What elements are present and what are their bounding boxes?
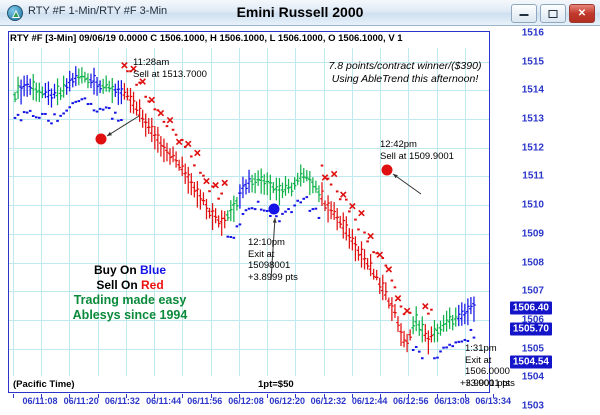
price-axis[interactable]: 1516151515141513151215111510150915081507… [492,31,600,393]
ohlc-bar [156,127,160,153]
ohlc-bar [199,189,203,209]
abletrend-sell-stop-icon [186,141,191,146]
price-marker-label: 1504.54 [510,355,552,368]
ohlc-bar [31,74,35,100]
gridline-vertical [69,48,70,376]
price-tick-label: 1510 [522,200,544,211]
abletrend-buy-dot [105,106,108,108]
ohlc-bar [427,330,431,354]
abletrend-sell-dot [430,309,433,311]
price-tick-label: 1509 [522,228,544,239]
ohlc-bar [165,143,169,162]
abletrend-buy-dot [17,114,20,116]
time-tick-label: 06/12:08 [228,396,264,406]
point-value-label: 1pt=$50 [258,379,294,390]
time-tick-label: 06/12:56 [393,396,429,406]
time-tick-label: 06/12:32 [311,396,347,406]
abletrend-sell-dot [339,198,342,200]
abletrend-sell-stop-icon [213,183,218,188]
price-marker-label: 1505.70 [510,322,552,335]
abletrend-buy-dot [53,113,56,115]
ohlc-bar [135,101,139,115]
abletrend-buy-dot [108,107,111,109]
close-button[interactable]: ✕ [569,4,595,23]
time-tick-mark [98,394,99,398]
price-tick-label: 1511 [522,171,544,182]
minimize-button[interactable] [511,4,537,23]
chart-window: RTY #F 1-Min/RTY #F 3-Min Emini Russell … [0,0,600,415]
abletrend-buy-dot [272,208,275,210]
gridline-vertical [13,48,14,376]
ohlc-bar [214,208,218,223]
ohlc-bar [89,74,93,89]
abletrend-sell-dot [144,96,147,98]
ohlc-bar [220,210,224,236]
time-tick-mark [493,394,494,398]
annotation-headline: 7.8 points/contract winner/($390) Using … [305,60,505,86]
abletrend-sell-dot [199,172,202,174]
time-tick-mark [465,394,466,398]
ohlc-bar [381,275,385,301]
gridline-vertical [41,48,42,376]
abletrend-buy-dot [114,112,117,114]
gridline-vertical [126,48,127,376]
abletrend-buy-dot [87,103,90,105]
abletrend-buy-dot [263,210,266,212]
abletrend-buy-dot [257,201,260,203]
ohlc-bar [22,76,26,97]
ohlc-bar [357,246,361,261]
ohlc-bar [196,181,200,208]
price-tick-label: 1507 [522,286,544,297]
abletrend-buy-dot [233,237,236,239]
net-points-label: +3.9001 pts [460,378,510,389]
gridline-horizontal [9,90,489,91]
abletrend-sell-dot [336,190,339,192]
abletrend-buy-dot [44,113,47,115]
ohlc-bar [129,88,133,113]
gridline-vertical [408,48,409,376]
app-title: Emini Russell 2000 [0,4,600,20]
abletrend-sell-dot [193,164,196,166]
ohlc-bar [193,182,197,197]
abletrend-buy-dot [299,201,302,203]
ohlc-bar [375,270,379,280]
ohlc-bar [71,73,75,87]
annotation-exit-1210: 12:10pm Exit at 15098001 +3.8999 pts [248,237,298,283]
ohlc-bar [217,215,221,227]
ohlc-bar [372,269,376,280]
abletrend-buy-dot [26,112,29,114]
ohlc-bar [430,326,434,342]
abletrend-sell-dot [138,82,141,84]
window-controls: ✕ [511,4,595,23]
abletrend-buy-dot [281,213,284,215]
abletrend-buy-dot [448,344,451,346]
ohlc-bar [417,320,421,335]
abletrend-buy-dot [433,357,436,359]
ohlc-bar [117,80,121,104]
time-tick-mark [211,394,212,398]
abletrend-sell-dot [163,121,166,123]
ohlc-bar [284,176,288,196]
abletrend-buy-dot [290,211,293,213]
abletrend-buy-dot [84,97,87,99]
ohlc-bar [466,298,470,325]
ohlc-bar [132,92,136,114]
abletrend-buy-dot [78,100,81,102]
abletrend-sell-dot [172,129,175,131]
abletrend-buy-dot [451,345,454,347]
abletrend-buy-dot [312,208,315,210]
gridline-vertical [295,48,296,376]
ohlc-bar [451,315,455,330]
ohlc-bar [120,80,124,104]
time-tick-mark [352,394,353,398]
ohlc-bar [259,168,263,193]
ohlc-bar [338,216,342,228]
abletrend-buy-dot [245,209,248,211]
abletrend-buy-dot [74,101,77,103]
abletrend-buy-dot [318,217,321,219]
abletrend-buy-dot [248,208,251,210]
abletrend-buy-dot [275,215,278,217]
abletrend-sell-dot [190,155,193,157]
gridline-horizontal [9,119,489,120]
abletrend-buy-dot [278,220,281,222]
ohlc-bar [348,228,352,249]
ohlc-bar [287,179,291,193]
ohlc-bar [433,320,437,343]
time-tick-mark [154,394,155,398]
abletrend-sell-stop-icon [386,267,391,272]
price-tick-label: 1503 [522,401,544,412]
gridline-vertical [324,48,325,376]
gridline-vertical [267,48,268,376]
abletrend-buy-dot [23,111,26,113]
abletrend-buy-dot [81,98,84,100]
ohlc-bar [28,79,32,96]
time-tick-mark [380,394,381,398]
window-titlebar: RTY #F 1-Min/RTY #F 3-Min Emini Russell … [0,0,600,26]
ohlc-bar [469,297,473,314]
abletrend-sell-dot [394,286,397,288]
legend-tagline-2: Ablesys since 1994 [55,308,205,323]
abletrend-sell-stop-icon [204,178,209,183]
abletrend-sell-dot [157,109,160,111]
ohlc-bar [47,81,51,104]
ohlc-bar [424,324,428,342]
abletrend-sell-stop-icon [359,210,364,215]
abletrend-sell-dot [366,240,369,242]
abletrend-sell-stop-icon [423,304,428,309]
ohlc-bar [363,249,367,269]
ohlc-bar [232,196,236,223]
price-tick-label: 1514 [522,85,544,96]
ohlc-bar [144,113,148,136]
ohlc-bar [360,241,364,267]
annotation-sell-1242: 12:42pm Sell at 1509.9001 [380,139,454,162]
abletrend-sell-dot [348,210,351,212]
abletrend-buy-dot [470,329,473,331]
abletrend-buy-dot [99,108,102,110]
ohlc-bar [275,178,279,201]
gridline-horizontal [9,205,489,206]
quote-header: RTY #F [3-Min] 09/06/19 0.0000 C 1506.10… [10,33,403,46]
abletrend-sell-dot [391,280,394,282]
gridline-vertical [239,48,240,376]
abletrend-sell-dot [166,125,169,127]
ohlc-bar [25,75,29,97]
ohlc-bar [174,151,178,167]
ohlc-bar [281,183,285,199]
annotation-arrowhead [273,218,277,223]
abletrend-sell-stop-icon [341,192,346,197]
ohlc-bar [329,201,333,219]
ohlc-bar [396,316,400,332]
ohlc-bar [77,68,81,85]
abletrend-buy-dot [226,236,229,238]
ohlc-bar [226,210,230,221]
ohlc-bar [101,79,105,94]
gridline-vertical [352,48,353,376]
ohlc-bar [74,66,78,86]
abletrend-buy-dot [461,341,464,343]
abletrend-buy-dot [236,225,239,227]
abletrend-buy-dot [242,213,245,215]
ohlc-bar [369,254,373,276]
abletrend-sell-dot [217,198,220,200]
abletrend-buy-dot [50,122,53,124]
ohlc-bar [205,199,209,220]
ohlc-bar [454,308,458,327]
abletrend-buy-dot [418,351,421,353]
abletrend-sell-stop-icon [195,150,200,155]
abletrend-sell-dot [175,134,178,136]
abletrend-buy-dot [254,208,257,210]
ohlc-bar [311,177,315,193]
price-tick-label: 1504 [522,372,544,383]
ohlc-bar [202,192,206,205]
time-tick-mark [126,394,127,398]
ohlc-bar [366,258,370,270]
ohlc-bar [59,87,63,100]
ohlc-bar [296,173,300,185]
ohlc-bar [186,167,190,194]
abletrend-buy-dot [305,196,308,198]
price-tick-label: 1515 [522,56,544,67]
abletrend-buy-dot [230,236,233,238]
ohlc-bar [86,73,90,88]
ohlc-bar [162,138,166,162]
ohlc-bar [308,171,312,195]
abletrend-buy-dot [315,208,318,210]
time-tick-mark [295,394,296,398]
abletrend-buy-dot [93,109,96,111]
ohlc-bar [472,297,476,322]
abletrend-buy-dot [284,211,287,213]
time-tick-mark [324,394,325,398]
abletrend-buy-dot [251,207,254,209]
abletrend-buy-dot [35,116,38,118]
ohlc-bar [387,298,391,309]
ohlc-bar [460,302,464,325]
maximize-button[interactable] [540,4,566,23]
ohlc-bar [317,185,321,202]
abletrend-buy-dot [102,109,105,111]
ohlc-bar [65,78,69,95]
gridline-vertical [437,48,438,376]
gridline-horizontal [9,349,489,350]
ohlc-bar [250,175,254,193]
ohlc-bar [104,75,108,91]
abletrend-buy-dot [467,340,470,342]
legend-buy-line: Buy On Blue [55,263,205,278]
ohlc-bar [147,118,151,134]
ohlc-bar [269,175,273,201]
ohlc-bar [62,76,66,98]
timezone-label: (Pacific Time) [13,379,75,390]
abletrend-sell-dot [147,100,150,102]
ohlc-bar [171,146,175,162]
abletrend-sell-dot [330,184,333,186]
abletrend-sell-dot [345,199,348,201]
abletrend-buy-dot [454,341,457,343]
ohlc-bar [290,182,294,196]
time-tick-label: 06/12:44 [352,396,388,406]
legend-sell-line: Sell On Red [55,278,205,293]
time-tick-mark [13,394,14,398]
abletrend-buy-dot [56,120,59,122]
abletrend-buy-dot [29,110,32,112]
abletrend-sell-dot [327,178,330,180]
abletrend-sell-dot [372,251,375,253]
annotation-arrowhead [107,132,112,136]
ohlc-bar [457,305,461,326]
ohlc-bar [402,331,406,348]
trade-marker-sell-1242[interactable] [382,165,392,175]
abletrend-sell-dot [427,313,430,315]
ohlc-bar [183,164,187,185]
ohlc-bar [80,67,84,83]
time-tick-label: 06/11:44 [146,396,181,406]
ohlc-bar [448,307,452,329]
gridline-vertical [380,48,381,376]
ohlc-bar [16,77,20,99]
time-tick-mark [69,394,70,398]
ohlc-bar [314,181,318,193]
abletrend-buy-dot [269,215,272,217]
abletrend-sell-stop-icon [222,180,227,185]
ohlc-bar [241,177,245,199]
ohlc-bar [244,179,248,194]
ohlc-bar [34,83,38,102]
ohlc-bar [19,80,23,105]
abletrend-buy-dot [296,200,299,202]
gridline-vertical [211,48,212,376]
abletrend-buy-dot [309,210,312,212]
ohlc-bar [229,200,233,221]
ohlc-bar [345,216,349,240]
time-tick-mark [41,394,42,398]
price-tick-label: 1512 [522,142,544,153]
price-series-canvas [9,48,489,376]
abletrend-sell-dot [354,219,357,221]
price-marker-label: 1506.40 [510,302,552,315]
ohlc-bar [177,160,181,171]
gridline-horizontal [9,176,489,177]
abletrend-buy-dot [473,337,476,339]
time-tick-label: 06/11:08 [22,396,57,406]
abletrend-buy-dot [71,102,74,104]
abletrend-sell-dot [385,265,388,267]
abletrend-sell-dot [321,165,324,167]
time-axis[interactable]: 06/11:0806/11:2006/11:3206/11:4406/11:56… [8,394,500,414]
abletrend-sell-dot [400,306,403,308]
abletrend-sell-dot [129,70,132,72]
abletrend-sell-stop-icon [158,110,163,115]
ohlc-bar [272,182,276,193]
ohlc-bar [399,323,403,346]
time-tick-label: 06/11:56 [187,396,222,406]
price-tick-label: 1516 [522,28,544,39]
ohlc-bar [168,148,172,165]
abletrend-sell-dot [409,312,412,314]
ohlc-bar [56,78,60,105]
ohlc-bar [256,170,260,186]
ohlc-bar [247,170,251,193]
strategy-legend: Buy On Blue Sell On Red Trading made eas… [55,263,205,323]
abletrend-buy-dot [439,350,442,352]
time-tick-mark [437,394,438,398]
abletrend-buy-dot [65,110,68,112]
time-tick-mark [182,394,183,398]
time-tick-mark [408,394,409,398]
time-tick-label: 06/12:20 [269,396,305,406]
gridline-horizontal [9,234,489,235]
ohlc-bar [335,208,339,230]
abletrend-buy-dot [287,208,290,210]
ohlc-bar [326,195,330,222]
abletrend-sell-dot [220,193,223,195]
gridline-vertical [154,48,155,376]
ohlc-bar [278,178,282,205]
abletrend-sell-stop-icon [395,296,400,301]
abletrend-sell-dot [135,84,138,86]
abletrend-buy-dot [260,209,263,211]
abletrend-sell-dot [381,257,384,259]
price-plot-area[interactable] [9,48,489,376]
price-tick-label: 1505 [522,343,544,354]
abletrend-buy-dot [302,198,305,200]
abletrend-buy-dot [62,112,65,114]
ohlc-bar [414,306,418,331]
time-tick-mark [267,394,268,398]
gridline-vertical [182,48,183,376]
ohlc-bar [223,211,227,228]
abletrend-buy-dot [457,341,460,343]
ohlc-bar [445,311,449,332]
price-tick-label: 1513 [522,114,544,125]
ohlc-bar [439,321,443,336]
abletrend-buy-dot [32,115,35,117]
time-tick-mark [239,394,240,398]
abletrend-sell-dot [375,252,378,254]
ohlc-bar [393,304,397,318]
abletrend-buy-dot [90,103,93,105]
abletrend-buy-dot [59,115,62,117]
abletrend-sell-dot [403,313,406,315]
